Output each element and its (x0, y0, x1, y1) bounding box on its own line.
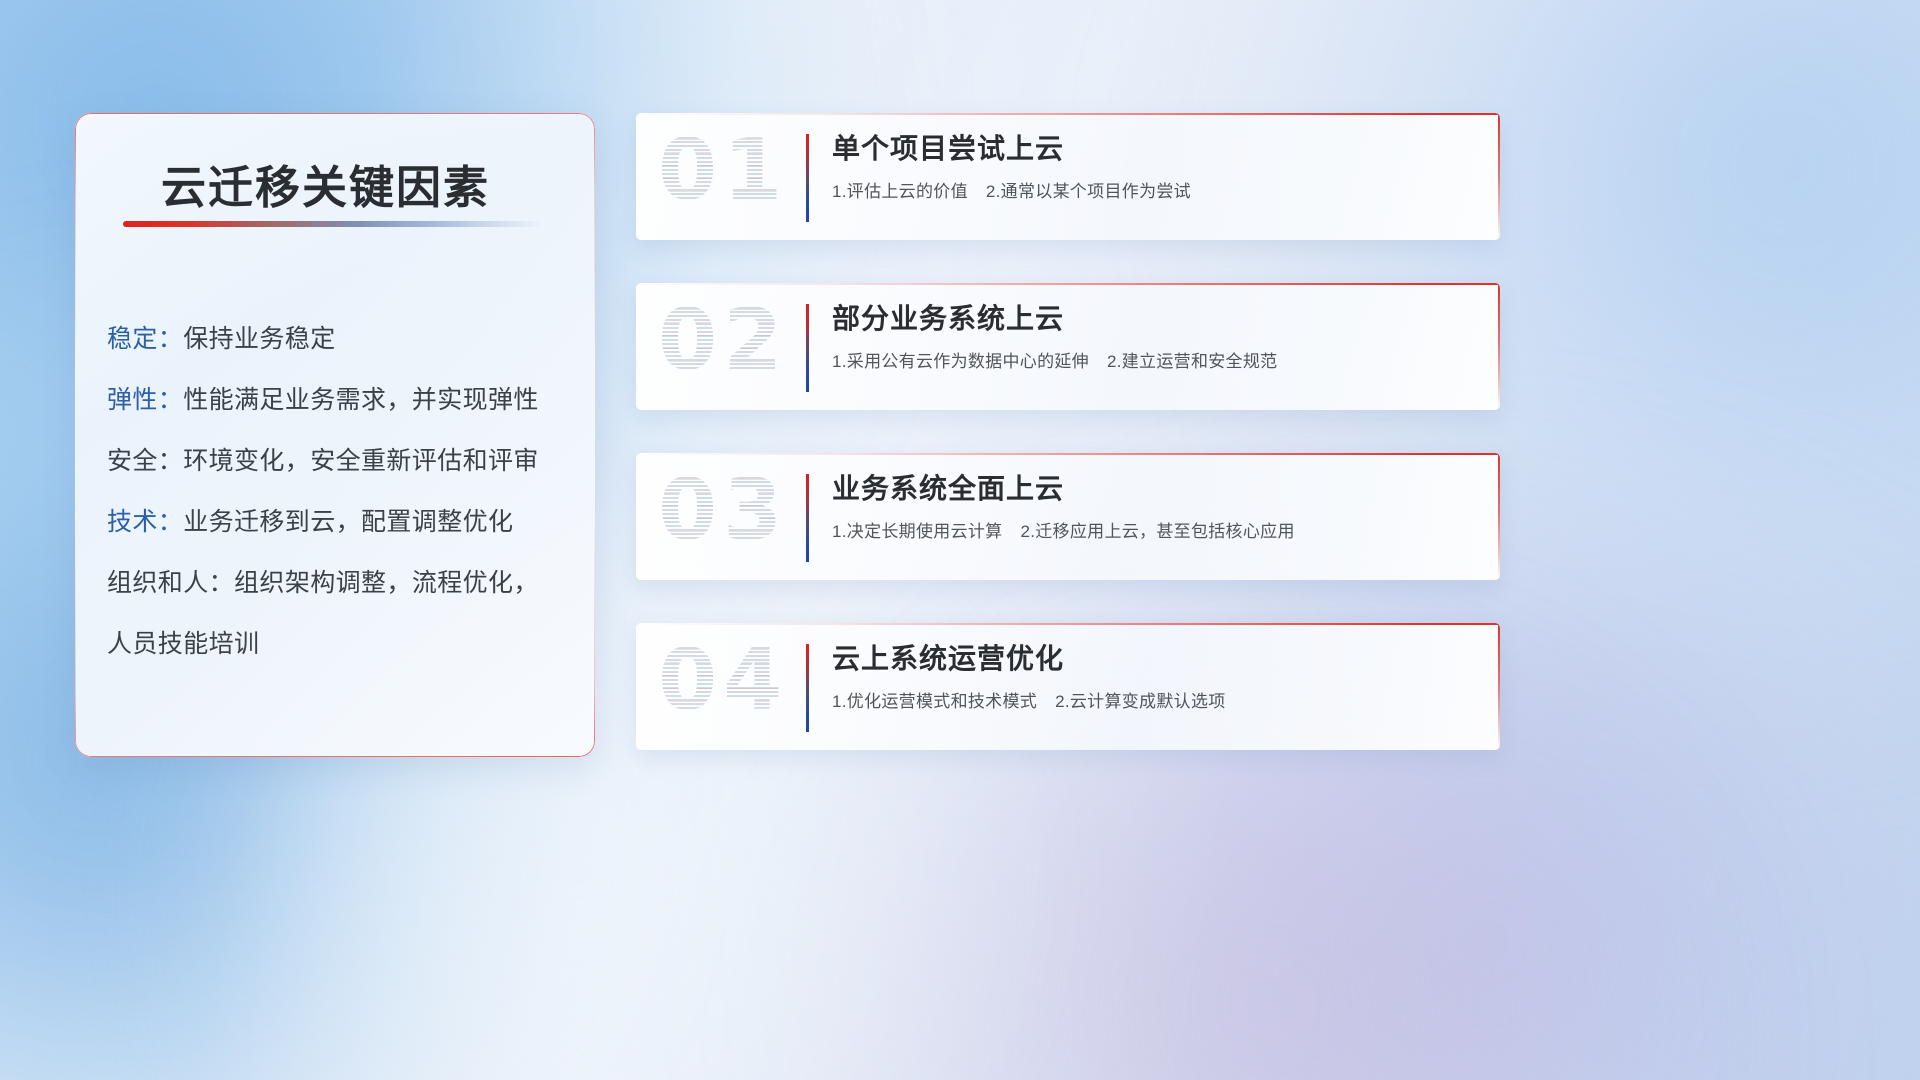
divider (806, 134, 809, 222)
stage-sub-item: 2.迁移应用上云，甚至包括核心应用 (1020, 522, 1294, 541)
stage-subtitle: 1.评估上云的价值2.通常以某个项目作为尝试 (832, 180, 1476, 204)
stage-subtitle: 1.优化运营模式和技术模式2.云计算变成默认选项 (832, 690, 1476, 714)
list-item: 稳定：保持业务稳定 (107, 309, 571, 370)
stage-sub-item: 2.建立运营和安全规范 (1107, 352, 1277, 371)
list-item: 弹性：性能满足业务需求，并实现弹性 (107, 370, 571, 431)
stage-card[interactable]: 01 01 单个项目尝试上云 1.评估上云的价值2.通常以某个项目作为尝试 (636, 113, 1500, 240)
list-item: 人员技能培训 (107, 614, 571, 675)
stage-card-list: 01 01 单个项目尝试上云 1.评估上云的价值2.通常以某个项目作为尝试 02… (636, 113, 1500, 793)
factor-text: 保持业务稳定 (183, 325, 335, 353)
list-item: 安全：环境变化，安全重新评估和评审 (107, 431, 571, 492)
stage-content: 云上系统运营优化 1.优化运营模式和技术模式2.云计算变成默认选项 (832, 639, 1476, 714)
stage-sub-item: 1.决定长期使用云计算 (832, 522, 1002, 541)
stage-sub-item: 1.采用公有云作为数据中心的延伸 (832, 352, 1089, 371)
stage-number-tint: 02 (658, 291, 788, 390)
factor-label: 组织和人： (107, 569, 234, 597)
title-underline (123, 221, 543, 227)
divider (806, 474, 809, 562)
factor-label: 稳定： (107, 325, 183, 353)
stage-card[interactable]: 04 04 云上系统运营优化 1.优化运营模式和技术模式2.云计算变成默认选项 (636, 623, 1500, 750)
stage-title: 部分业务系统上云 (832, 299, 1476, 339)
key-factors-list: 稳定：保持业务稳定 弹性：性能满足业务需求，并实现弹性 安全：环境变化，安全重新… (107, 309, 571, 675)
divider (806, 304, 809, 392)
stage-subtitle: 1.决定长期使用云计算2.迁移应用上云，甚至包括核心应用 (832, 520, 1476, 544)
stage-title: 单个项目尝试上云 (832, 129, 1476, 169)
stage-card[interactable]: 02 02 部分业务系统上云 1.采用公有云作为数据中心的延伸2.建立运营和安全… (636, 283, 1500, 410)
stage-content: 部分业务系统上云 1.采用公有云作为数据中心的延伸2.建立运营和安全规范 (832, 299, 1476, 374)
stage-title: 业务系统全面上云 (832, 469, 1476, 509)
list-item: 技术：业务迁移到云，配置调整优化 (107, 492, 571, 553)
stage-sub-item: 1.评估上云的价值 (832, 182, 968, 201)
factor-text: 人员技能培训 (107, 630, 259, 658)
factor-text: 组织架构调整，流程优化， (234, 569, 539, 597)
factor-label: 弹性： (107, 386, 183, 414)
stage-subtitle: 1.采用公有云作为数据中心的延伸2.建立运营和安全规范 (832, 350, 1476, 374)
stage-card[interactable]: 03 03 业务系统全面上云 1.决定长期使用云计算2.迁移应用上云，甚至包括核… (636, 453, 1500, 580)
factor-text: 性能满足业务需求，并实现弹性 (183, 386, 539, 414)
page-title: 云迁移关键因素 (161, 151, 490, 216)
stage-number-tint: 04 (658, 631, 788, 730)
factor-text: 环境变化，安全重新评估和评审 (183, 447, 539, 475)
stage-content: 业务系统全面上云 1.决定长期使用云计算2.迁移应用上云，甚至包括核心应用 (832, 469, 1476, 544)
stage-number-tint: 01 (658, 121, 788, 220)
stage-sub-item: 2.云计算变成默认选项 (1055, 692, 1225, 711)
list-item: 组织和人：组织架构调整，流程优化， (107, 553, 571, 614)
factor-label: 安全： (107, 447, 183, 475)
stage-title: 云上系统运营优化 (832, 639, 1476, 679)
stage-sub-item: 1.优化运营模式和技术模式 (832, 692, 1037, 711)
factor-label: 技术： (107, 508, 183, 536)
factor-text: 业务迁移到云，配置调整优化 (183, 508, 513, 536)
stage-content: 单个项目尝试上云 1.评估上云的价值2.通常以某个项目作为尝试 (832, 129, 1476, 204)
divider (806, 644, 809, 732)
stage-sub-item: 2.通常以某个项目作为尝试 (986, 182, 1191, 201)
key-factors-panel: 云迁移关键因素 稳定：保持业务稳定 弹性：性能满足业务需求，并实现弹性 安全：环… (75, 113, 595, 757)
stage-number-tint: 03 (658, 461, 788, 560)
